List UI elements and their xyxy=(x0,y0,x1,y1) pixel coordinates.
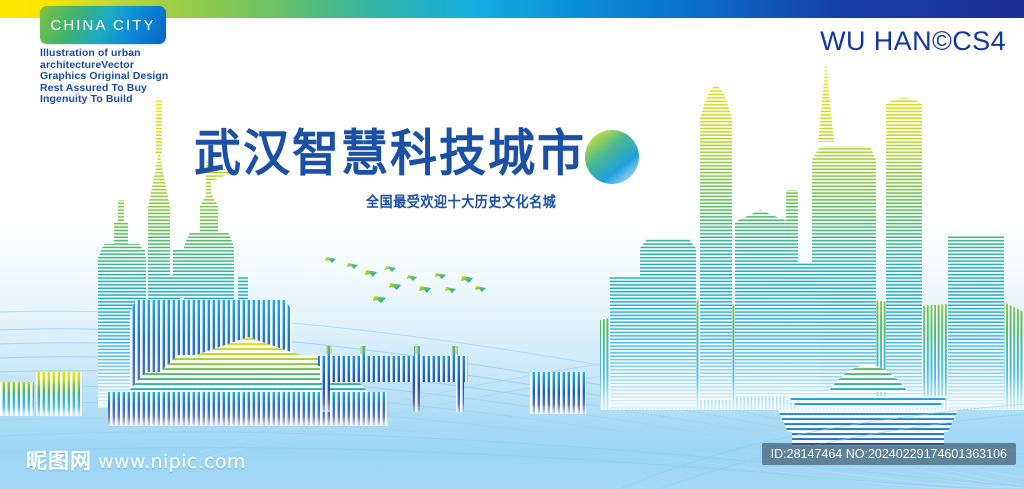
english-line-5: Ingenuity To Build xyxy=(40,94,168,106)
sun-circle xyxy=(585,130,639,184)
watermark-url: www.nipic.com xyxy=(98,451,246,473)
china-city-badge-label: CHINA CITY xyxy=(50,17,155,34)
bird-flock xyxy=(325,257,486,303)
watermark-cn: 昵图网 xyxy=(26,449,92,473)
china-city-badge: CHINA CITY xyxy=(40,6,166,44)
poster-canvas: CHINA CITY Illustration of urban archite… xyxy=(0,0,1024,489)
english-description-block: Illustration of urban architectureVector… xyxy=(40,48,168,106)
brand-wuhan-cs4: WU HAN©CS4 xyxy=(820,26,1006,57)
english-line-1: Illustration of urban xyxy=(40,48,168,60)
id-badge: ID:28147464 NO:20240229174601363106 xyxy=(762,443,1016,465)
page-title: 武汉智慧科技城市 xyxy=(194,129,586,179)
page-subtitle: 全国最受欢迎十大历史文化名城 xyxy=(366,190,556,211)
watermark: 昵图网www.nipic.com xyxy=(26,445,246,475)
